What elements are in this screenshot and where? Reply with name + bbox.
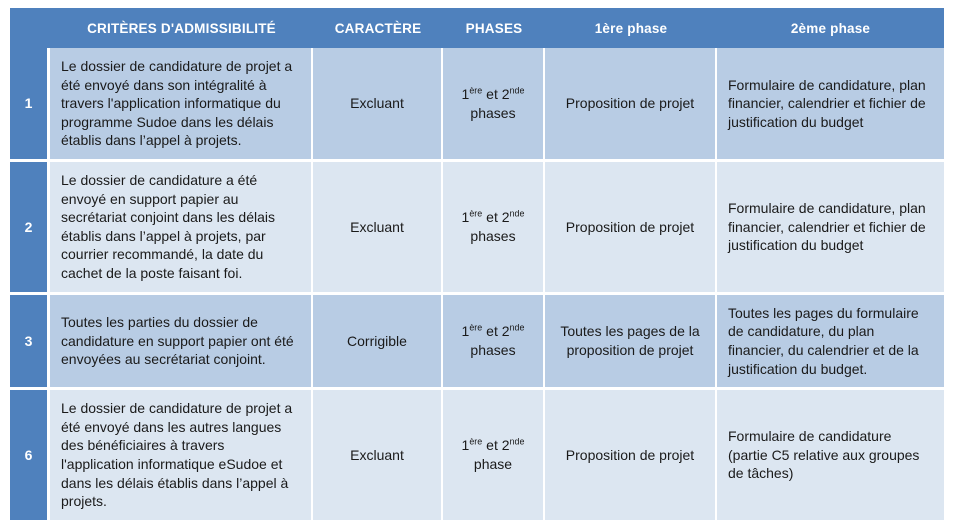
cell-phase-2: Formulaire de candidature, plan financie… xyxy=(717,162,944,295)
phases-mid: et 2 xyxy=(482,209,509,225)
phases-sup-second: nde xyxy=(510,437,525,447)
header-row: CRITÈRES D'ADMISSIBILITÉ CARACTÈRE PHASE… xyxy=(10,8,944,48)
phases-sup-first: ère xyxy=(469,323,482,333)
criteria-table-container: CRITÈRES D'ADMISSIBILITÉ CARACTÈRE PHASE… xyxy=(10,8,944,520)
phases-sup-first: ère xyxy=(469,209,482,219)
phases-mid: et 2 xyxy=(482,437,509,453)
table-row: 2 Le dossier de candidature a été envoyé… xyxy=(10,162,944,295)
cell-criteria: Le dossier de candidature de projet a ét… xyxy=(50,390,313,520)
row-number: 6 xyxy=(10,390,50,520)
row-number: 1 xyxy=(10,48,50,162)
cell-phase-1: Proposition de projet xyxy=(545,48,717,162)
phases-sup-second: nde xyxy=(510,209,525,219)
phases-mid: et 2 xyxy=(482,86,509,102)
cell-phases: 1ère et 2nde phase xyxy=(443,390,545,520)
cell-phases: 1ère et 2nde phases xyxy=(443,48,545,162)
admissibility-criteria-table: CRITÈRES D'ADMISSIBILITÉ CARACTÈRE PHASE… xyxy=(10,8,944,520)
row-number: 3 xyxy=(10,295,50,390)
cell-character: Excluant xyxy=(313,162,443,295)
cell-criteria: Le dossier de candidature a été envoyé e… xyxy=(50,162,313,295)
phases-sup-first: ère xyxy=(469,437,482,447)
cell-phase-1: Toutes les pages de la proposition de pr… xyxy=(545,295,717,390)
header-phase-2: 2ème phase xyxy=(717,8,944,48)
cell-character: Excluant xyxy=(313,48,443,162)
phases-mid: et 2 xyxy=(482,323,509,339)
table-body: 1 Le dossier de candidature de projet a … xyxy=(10,48,944,520)
cell-phase-1: Proposition de projet xyxy=(545,390,717,520)
phases-suffix: phases xyxy=(470,228,515,244)
table-row: 3 Toutes les parties du dossier de candi… xyxy=(10,295,944,390)
header-character: CARACTÈRE xyxy=(313,8,443,48)
phases-suffix: phase xyxy=(474,456,512,472)
phases-sup-first: ère xyxy=(469,85,482,95)
cell-phase-1: Proposition de projet xyxy=(545,162,717,295)
cell-criteria: Le dossier de candidature de projet a ét… xyxy=(50,48,313,162)
cell-phase-2: Toutes les pages du formulaire de candid… xyxy=(717,295,944,390)
phases-suffix: phases xyxy=(470,105,515,121)
phases-suffix: phases xyxy=(470,342,515,358)
row-number: 2 xyxy=(10,162,50,295)
table-row: 6 Le dossier de candidature de projet a … xyxy=(10,390,944,520)
cell-phases: 1ère et 2nde phases xyxy=(443,162,545,295)
cell-phase-2: Formulaire de candidature (partie C5 rel… xyxy=(717,390,944,520)
header-criteria: CRITÈRES D'ADMISSIBILITÉ xyxy=(50,8,313,48)
cell-phase-2: Formulaire de candidature, plan financie… xyxy=(717,48,944,162)
cell-character: Excluant xyxy=(313,390,443,520)
phases-sup-second: nde xyxy=(510,85,525,95)
table-header: CRITÈRES D'ADMISSIBILITÉ CARACTÈRE PHASE… xyxy=(10,8,944,48)
phases-sup-second: nde xyxy=(510,323,525,333)
header-phase-1: 1ère phase xyxy=(545,8,717,48)
cell-criteria: Toutes les parties du dossier de candida… xyxy=(50,295,313,390)
cell-character: Corrigible xyxy=(313,295,443,390)
cell-phases: 1ère et 2nde phases xyxy=(443,295,545,390)
table-row: 1 Le dossier de candidature de projet a … xyxy=(10,48,944,162)
header-number xyxy=(10,8,50,48)
header-phases: PHASES xyxy=(443,8,545,48)
